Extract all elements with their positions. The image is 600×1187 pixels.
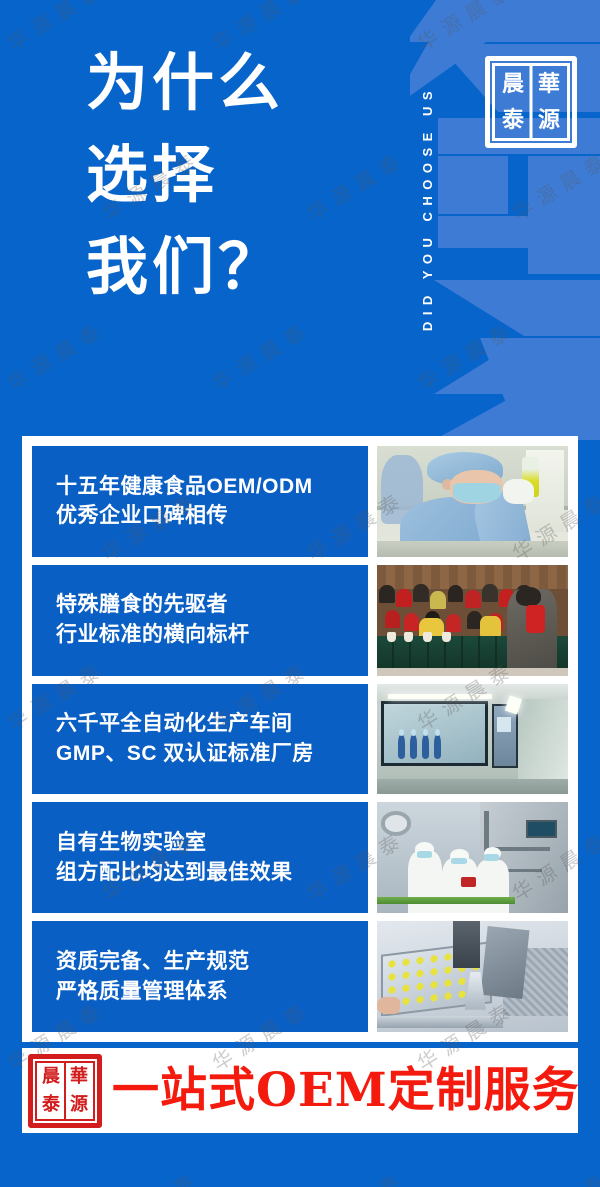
watermark-text: 华源晨泰 (1, 313, 111, 397)
footer-seal-char-top-right: 華 (65, 1063, 93, 1091)
feature-card: 自有生物实验室 组方配比均达到最佳效果 (32, 802, 568, 913)
feature-card-text: 特殊膳食的先驱者 行业标准的横向标杆 (32, 565, 368, 676)
watermark-text: 华源晨泰 (0, 823, 1, 907)
footer-seal-char-bottom-right: 源 (65, 1091, 93, 1119)
watermark-text: 华源晨泰 (301, 1163, 411, 1187)
vertical-english-text: DID YOU CHOOSE US (420, 85, 435, 331)
blister-packing-machine-photo (377, 921, 568, 1032)
footer-service-banner: 晨 華 泰 源 一站式OEM定制服务 (22, 1048, 578, 1133)
watermark-text: 华源晨泰 (506, 1163, 600, 1187)
footer-slogan: 一站式OEM定制服务 (112, 1067, 580, 1114)
poster-headline: 为什么 选择 我们？ (86, 52, 386, 298)
feature-line-2: 组方配比均达到最佳效果 (56, 858, 368, 888)
feature-card-text: 十五年健康食品OEM/ODM 优秀企业口碑相传 (32, 446, 368, 557)
feature-line-2: 严格质量管理体系 (56, 977, 368, 1007)
seal-char-top-left: 晨 (495, 66, 531, 102)
feature-card: 特殊膳食的先驱者 行业标准的横向标杆 (32, 565, 568, 676)
headline-line-1: 为什么 (86, 52, 386, 114)
watermark-text: 华源晨泰 (0, 483, 1, 567)
watermark-text: 华源晨泰 (206, 313, 316, 397)
watermark-text: 华源晨泰 (96, 1163, 206, 1187)
feature-line-2: 优秀企业口碑相传 (56, 501, 368, 531)
feature-line-1: 资质完备、生产规范 (56, 947, 368, 977)
feature-card-text: 六千平全自动化生产车间 GMP、SC 双认证标准厂房 (32, 684, 368, 795)
lab-technician-photo (377, 446, 568, 557)
promotional-poster: 为什么 选择 我们？ DID YOU CHOOSE US 晨 華 泰 源 十五年… (0, 0, 600, 1187)
feature-card: 十五年健康食品OEM/ODM 优秀企业口碑相传 (32, 446, 568, 557)
seal-char-bottom-right: 源 (531, 102, 567, 138)
footer-seal-char-bottom-left: 泰 (37, 1091, 65, 1119)
seal-char-bottom-left: 泰 (495, 102, 531, 138)
features-panel: 十五年健康食品OEM/ODM 优秀企业口碑相传 (22, 436, 578, 1042)
feature-line-1: 特殊膳食的先驱者 (56, 590, 368, 620)
footer-seal-logo-icon: 晨 華 泰 源 (28, 1054, 102, 1128)
watermark-text: 华源晨泰 (0, 143, 1, 227)
cleanroom-corridor-photo (377, 684, 568, 795)
production-line-workers-photo (377, 802, 568, 913)
feature-line-2: GMP、SC 双认证标准厂房 (56, 739, 368, 769)
feature-card-text: 资质完备、生产规范 严格质量管理体系 (32, 921, 368, 1032)
footer-seal-char-top-left: 晨 (37, 1063, 65, 1091)
headline-line-3: 我们？ (86, 236, 386, 298)
feature-line-1: 自有生物实验室 (56, 828, 368, 858)
feature-card: 六千平全自动化生产车间 GMP、SC 双认证标准厂房 (32, 684, 568, 795)
feature-card-text: 自有生物实验室 组方配比均达到最佳效果 (32, 802, 368, 913)
feature-card: 资质完备、生产规范 严格质量管理体系 (32, 921, 568, 1032)
company-seal-logo-icon: 晨 華 泰 源 (485, 56, 577, 148)
feature-line-1: 六千平全自动化生产车间 (56, 709, 368, 739)
feature-line-2: 行业标准的横向标杆 (56, 620, 368, 650)
watermark-text: 华源晨泰 (506, 143, 600, 227)
conference-audience-photo (377, 565, 568, 676)
vertical-english-tagline: DID YOU CHOOSE US (414, 8, 440, 408)
feature-line-1: 十五年健康食品OEM/ODM (56, 472, 368, 502)
seal-char-top-right: 華 (531, 66, 567, 102)
watermark-text: 华源晨泰 (0, 1163, 1, 1187)
headline-line-2: 选择 (86, 144, 386, 206)
